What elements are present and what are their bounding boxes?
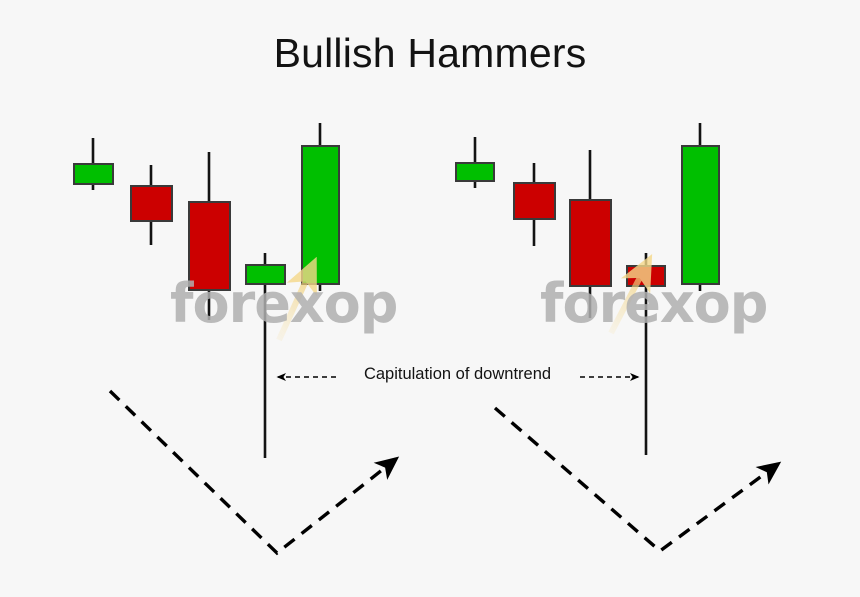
left-trendline <box>110 391 396 553</box>
right-candle-3[interactable] <box>570 150 611 318</box>
annotation-capitulation-label: Capitulation of downtrend <box>340 365 575 384</box>
candle-body <box>514 183 555 219</box>
candle-body <box>302 146 339 284</box>
chart-canvas <box>0 0 860 597</box>
right-candle-4-hammer[interactable] <box>627 253 665 455</box>
left-pattern-group <box>74 123 396 553</box>
left-candle-2[interactable] <box>131 165 172 245</box>
left-candle-4-hammer[interactable] <box>246 253 285 458</box>
right-candle-2[interactable] <box>514 163 555 246</box>
left-candle-5[interactable] <box>302 123 339 291</box>
candle-body <box>456 163 494 181</box>
candle-body <box>682 146 719 284</box>
right-trendline <box>495 408 778 551</box>
right-pattern-group <box>456 123 778 551</box>
right-candle-5[interactable] <box>682 123 719 291</box>
left-candle-3[interactable] <box>189 152 230 320</box>
right-candle-1[interactable] <box>456 137 494 188</box>
candlestick-diagram: Bullish Hammers <box>0 0 860 597</box>
candle-body <box>246 265 285 284</box>
left-candle-1[interactable] <box>74 138 113 190</box>
candle-body <box>131 186 172 221</box>
candle-body <box>570 200 611 286</box>
candle-body <box>189 202 230 290</box>
candle-body <box>74 164 113 184</box>
